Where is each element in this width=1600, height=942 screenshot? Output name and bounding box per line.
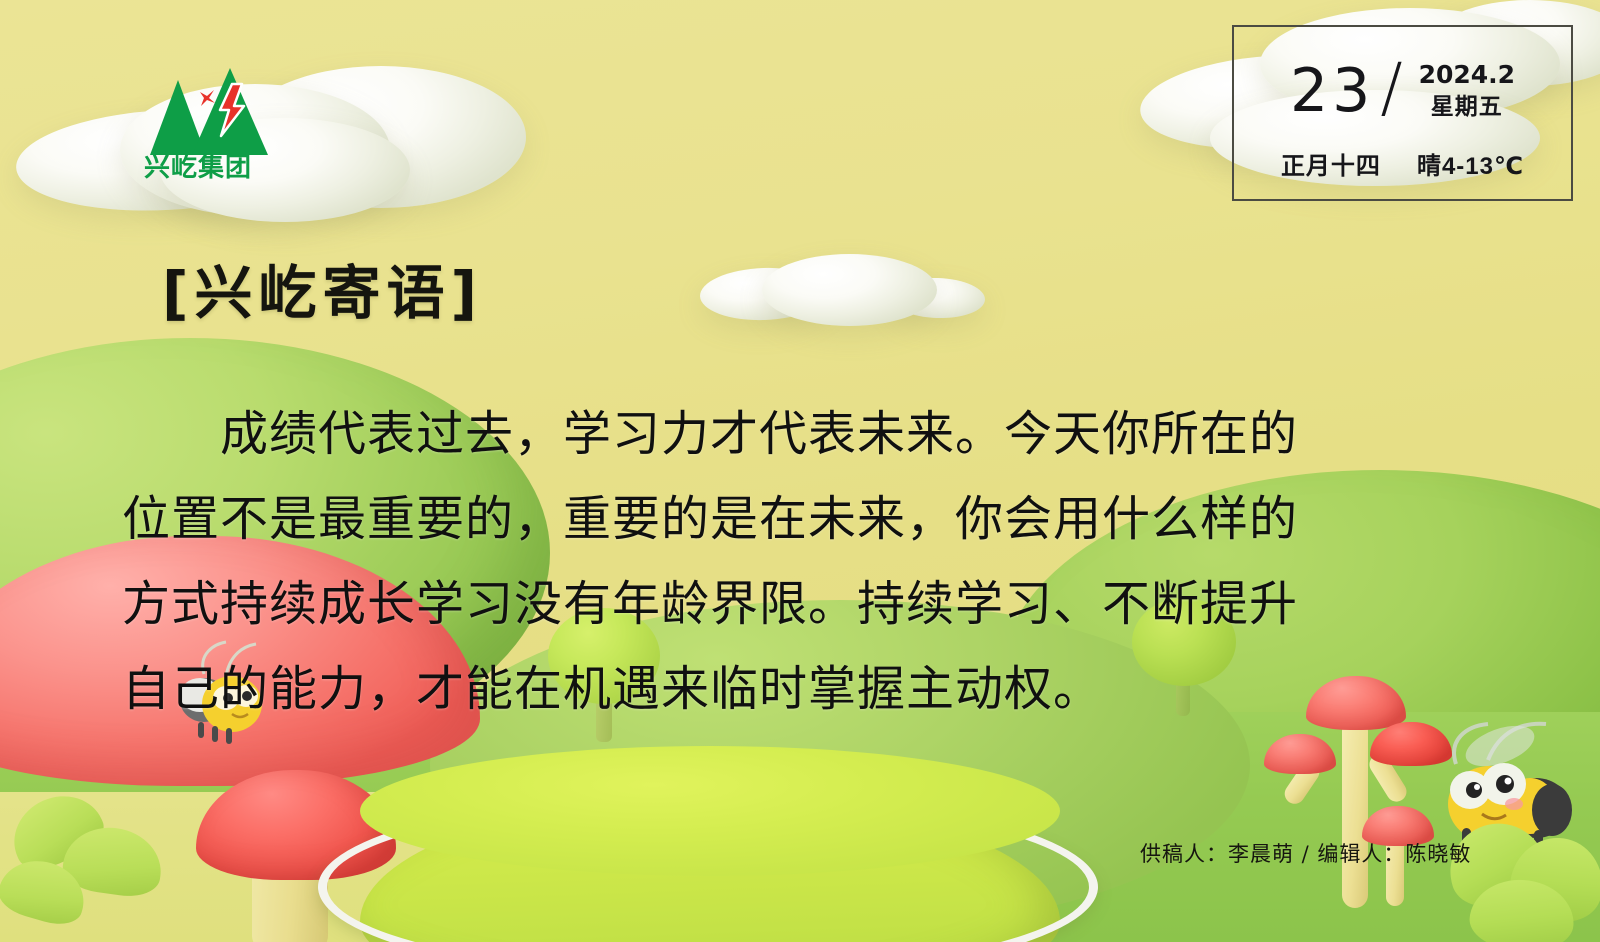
weather-condition: 晴 — [1417, 146, 1442, 181]
date-year-month: 2024.2 — [1419, 61, 1515, 90]
date-card: 23 / 2024.2 星期五 正月十四 晴 4-13℃ — [1232, 25, 1573, 201]
message-line: 自己的能力，才能在机遇来临时掌握主动权。 — [122, 647, 1482, 732]
credit-line: 供稿人：李晨萌 / 编辑人：陈晓敏 — [1140, 838, 1471, 868]
logo-star-icon — [200, 90, 215, 106]
date-card-top-row: 23 / 2024.2 星期五 — [1234, 53, 1571, 143]
date-weekday: 星期五 — [1431, 92, 1503, 122]
date-year-month-block: 2024.2 星期五 — [1419, 61, 1515, 122]
message-line: 位置不是最重要的，重要的是在未来，你会用什么样的 — [122, 477, 1482, 562]
weather-temperature: 4-13℃ — [1442, 152, 1524, 181]
company-logo[interactable]: 兴屹集团 — [108, 50, 288, 180]
message-body: 成绩代表过去，学习力才代表未来。今天你所在的 位置不是最重要的，重要的是在未来，… — [122, 392, 1482, 732]
date-separator: / — [1380, 55, 1402, 121]
mushroom-stem — [1342, 718, 1368, 908]
weather-block: 晴 4-13℃ — [1417, 146, 1524, 181]
logo-wordmark: 兴屹集团 — [144, 152, 252, 180]
message-line: 成绩代表过去，学习力才代表未来。今天你所在的 — [122, 392, 1482, 477]
cloud-lobe — [762, 254, 937, 326]
lunar-date: 正月十四 — [1281, 146, 1381, 181]
podium-top-surface — [360, 746, 1060, 876]
poster-canvas: 兴屹集团 23 / 2024.2 星期五 正月十四 晴 4-13℃ [兴屹寄语]… — [0, 0, 1600, 942]
message-line: 方式持续成长学习没有年龄界限。持续学习、不断提升 — [122, 562, 1482, 647]
date-card-bottom-row: 正月十四 晴 4-13℃ — [1234, 146, 1571, 181]
page-title: [兴屹寄语] — [162, 246, 483, 330]
date-day: 23 — [1290, 61, 1374, 121]
